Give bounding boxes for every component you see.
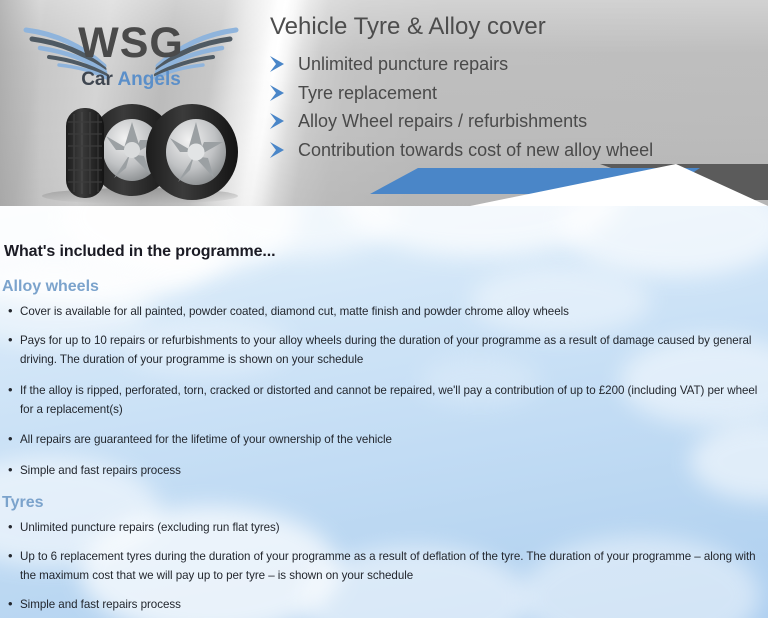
banner-feature-item: Unlimited puncture repairs [268,50,758,78]
banner-feature-label: Alloy Wheel repairs / refurbishments [298,112,587,130]
section-heading-alloy-wheels: Alloy wheels [2,278,99,296]
list-item-text: Simple and fast repairs process [20,461,764,480]
bullet-icon: • [8,595,20,612]
banner-title: Vehicle Tyre & Alloy cover [270,14,546,40]
list-item: • Pays for up to 10 repairs or refurbish… [8,331,764,369]
list-item-text: If the alloy is ripped, perforated, torn… [20,381,764,419]
bullet-icon: • [8,302,20,319]
page-title: What's included in the programme... [4,243,275,261]
banner-geometric-accent [0,150,768,206]
list-item-text: All repairs are guaranteed for the lifet… [20,430,764,449]
banner-feature-list: Unlimited puncture repairs Tyre replacem… [268,50,758,164]
list-item-text: Pays for up to 10 repairs or refurbishme… [20,331,764,369]
bullet-icon: • [8,461,20,478]
list-item: • All repairs are guaranteed for the lif… [8,430,764,449]
list-item: • Simple and fast repairs process [8,595,764,614]
bullet-icon: • [8,430,20,447]
logo-tagline: Car Angels [18,70,244,89]
arrow-right-icon [268,112,298,130]
advert-page: WSG Car Angels [0,0,768,618]
bullet-icon: • [8,518,20,535]
list-item-text: Simple and fast repairs process [20,595,764,614]
arrow-right-icon [268,84,298,102]
list-item: • Up to 6 replacement tyres during the d… [8,547,764,585]
brand-logo[interactable]: WSG Car Angels [18,8,244,98]
list-item: • Simple and fast repairs process [8,461,764,480]
list-item-text: Up to 6 replacement tyres during the dur… [20,547,764,585]
logo-tagline-angels: Angels [117,69,180,90]
bullet-icon: • [8,331,20,348]
bullet-icon: • [8,547,20,564]
banner-feature-label: Unlimited puncture repairs [298,55,508,73]
section-heading-tyres: Tyres [2,494,44,512]
logo-wordmark: WSG [18,22,244,65]
arrow-right-icon [268,55,298,73]
list-item: • Unlimited puncture repairs (excluding … [8,518,764,537]
list-item-text: Cover is available for all painted, powd… [20,302,764,321]
banner-feature-item: Alloy Wheel repairs / refurbishments [268,107,758,135]
content-area: What's included in the programme... Allo… [0,206,768,618]
banner-feature-label: Tyre replacement [298,84,437,102]
list-item: • If the alloy is ripped, perforated, to… [8,381,764,419]
banner-feature-item: Tyre replacement [268,79,758,107]
list-item: • Cover is available for all painted, po… [8,302,764,321]
list-item-text: Unlimited puncture repairs (excluding ru… [20,518,764,537]
logo-tagline-car: Car [81,69,117,90]
header-banner: WSG Car Angels [0,0,768,206]
bullet-icon: • [8,381,20,398]
